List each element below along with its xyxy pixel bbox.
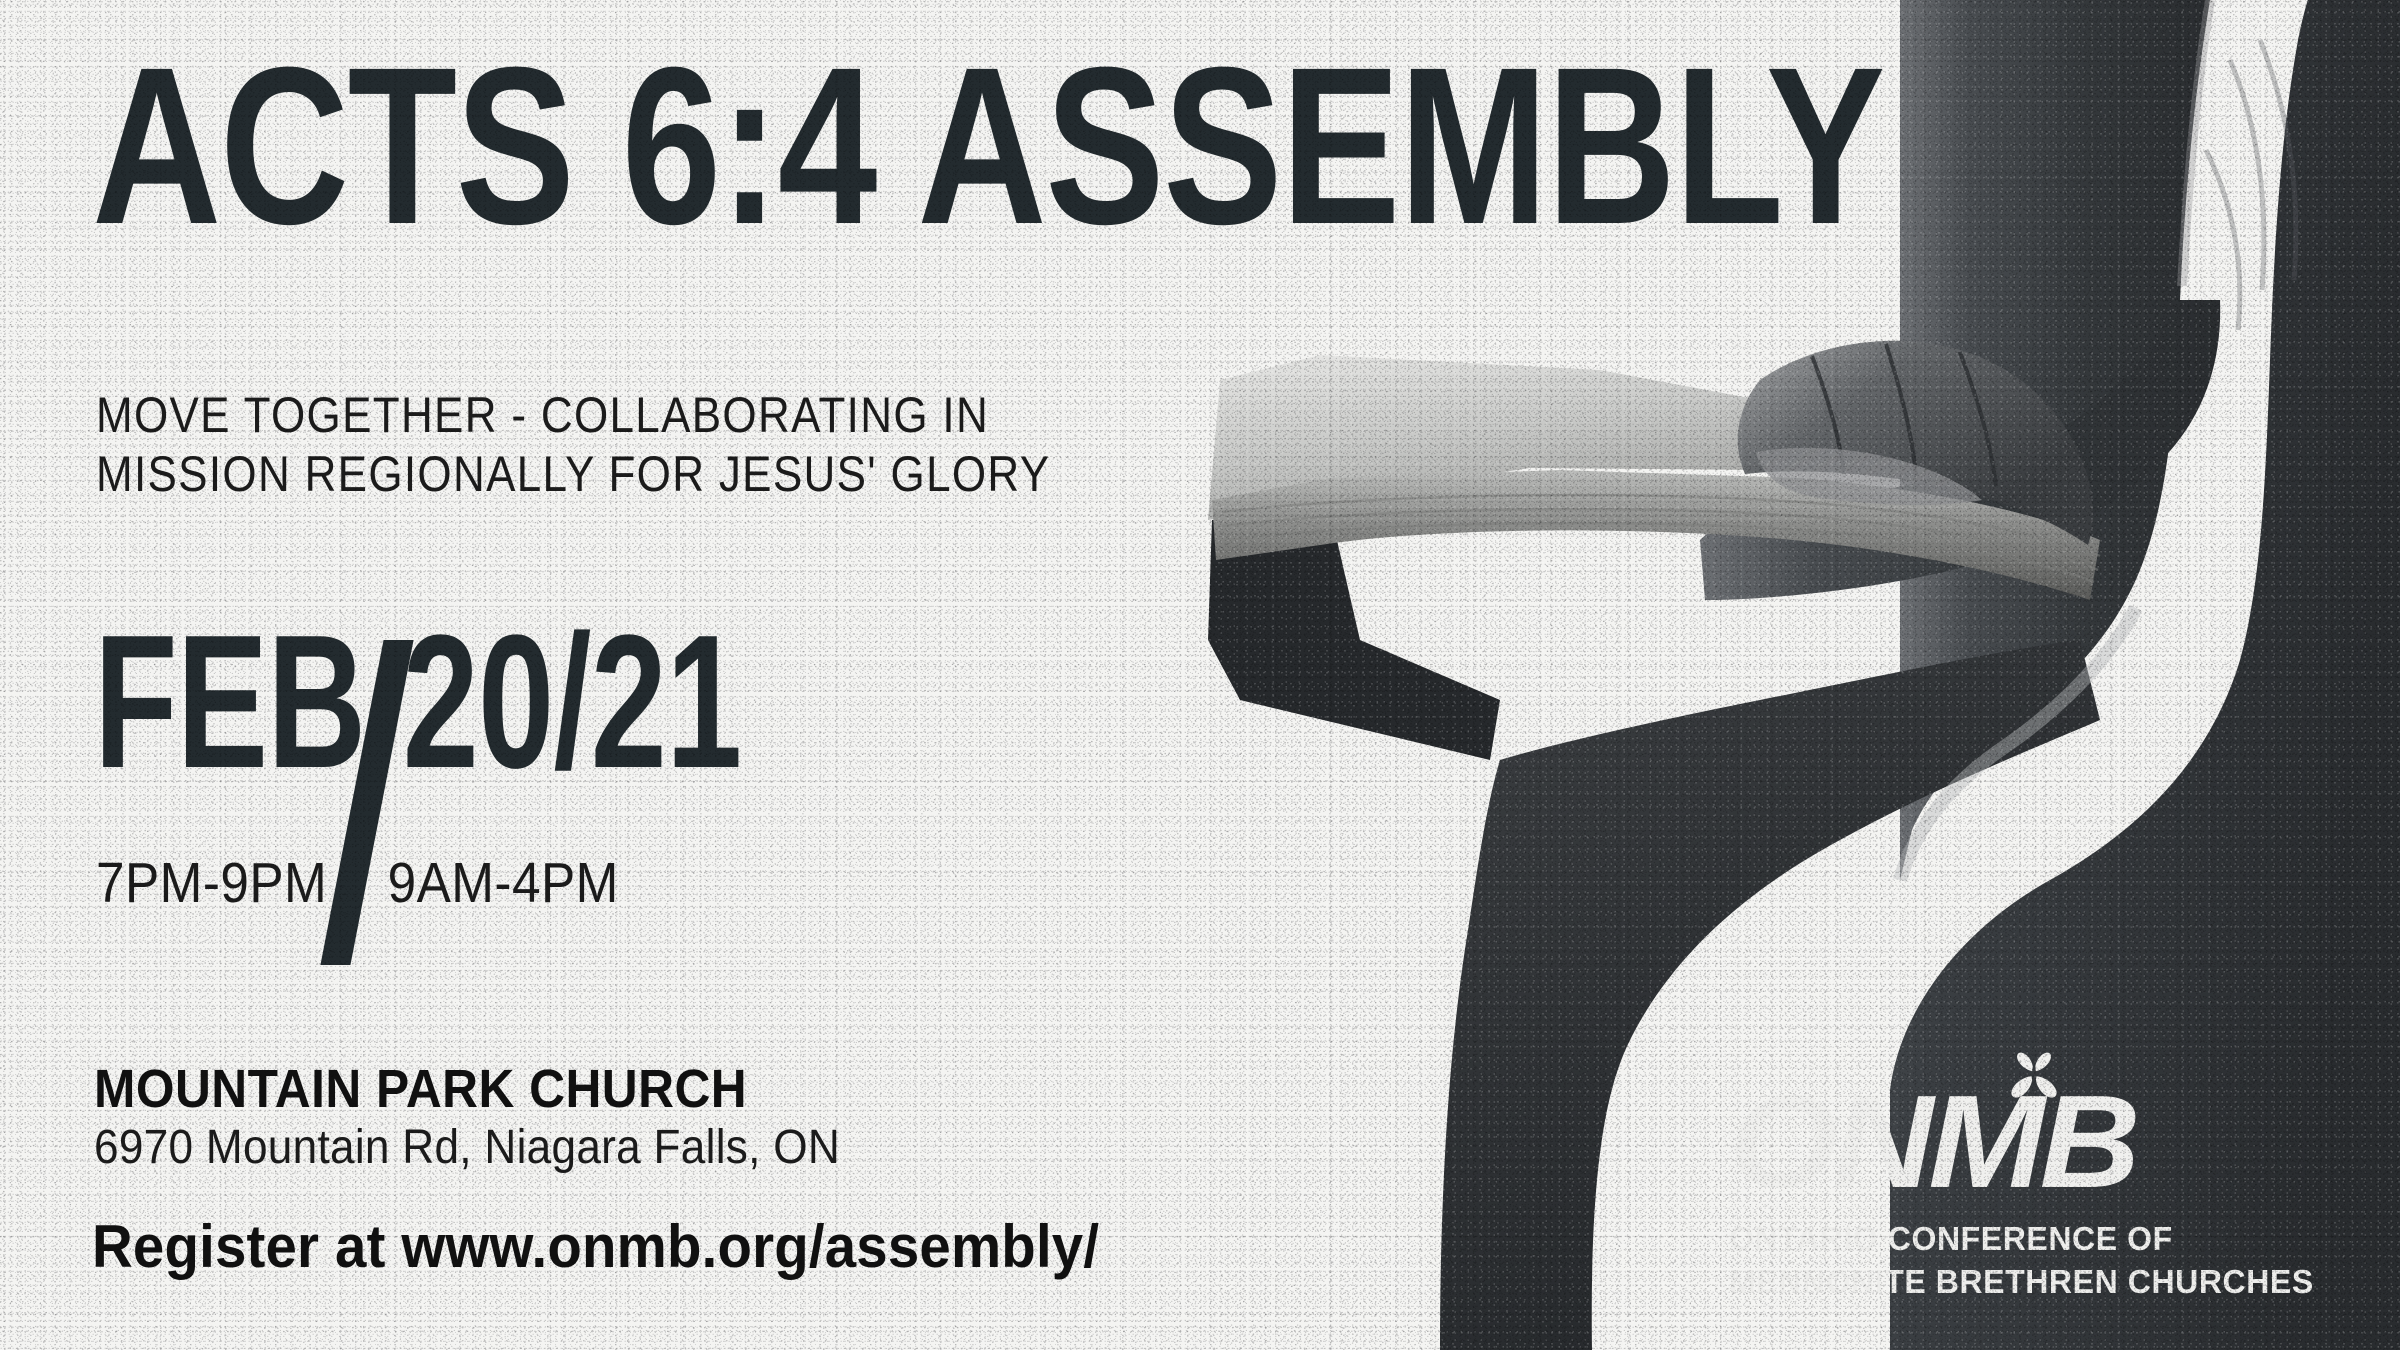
event-date: FEB 20/21 xyxy=(94,625,741,781)
subtitle-line-2: MISSION REGIONALLY FOR JESUS' GLORY xyxy=(96,445,1050,504)
onmb-wordmark: ONMB xyxy=(1729,1076,2135,1208)
event-time-day-two: 9AM-4PM xyxy=(388,850,619,916)
logo-tagline-line-1: ONTARIO CONFERENCE OF xyxy=(1729,1218,2314,1261)
logo-mark-row: ONMB xyxy=(1729,1050,2069,1202)
event-time-day-one: 7PM-9PM xyxy=(96,850,327,916)
onmb-logo: ONMB ONTARIO CONFERENCE OF MENNONITE BRE… xyxy=(1729,1050,2332,1304)
poster-canvas: ACTS 6:4 ASSEMBLY MOVE TOGETHER - COLLAB… xyxy=(0,0,2400,1350)
subtitle-block: MOVE TOGETHER - COLLABORATING IN MISSION… xyxy=(96,386,1050,504)
logo-tagline-line-2: MENNONITE BRETHREN CHURCHES xyxy=(1729,1261,2314,1304)
event-date-row: FEB 20/21 xyxy=(94,625,993,781)
four-petal-flower-icon xyxy=(2003,1044,2065,1106)
registration-link[interactable]: Register at www.onmb.org/assembly/ xyxy=(92,1212,1099,1281)
logo-tagline: ONTARIO CONFERENCE OF MENNONITE BRETHREN… xyxy=(1729,1218,2314,1304)
subtitle-line-1: MOVE TOGETHER - COLLABORATING IN xyxy=(96,386,1050,445)
venue-name: MOUNTAIN PARK CHURCH xyxy=(94,1058,747,1120)
venue-address: 6970 Mountain Rd, Niagara Falls, ON xyxy=(94,1120,840,1175)
page-title: ACTS 6:4 ASSEMBLY xyxy=(92,50,1884,243)
